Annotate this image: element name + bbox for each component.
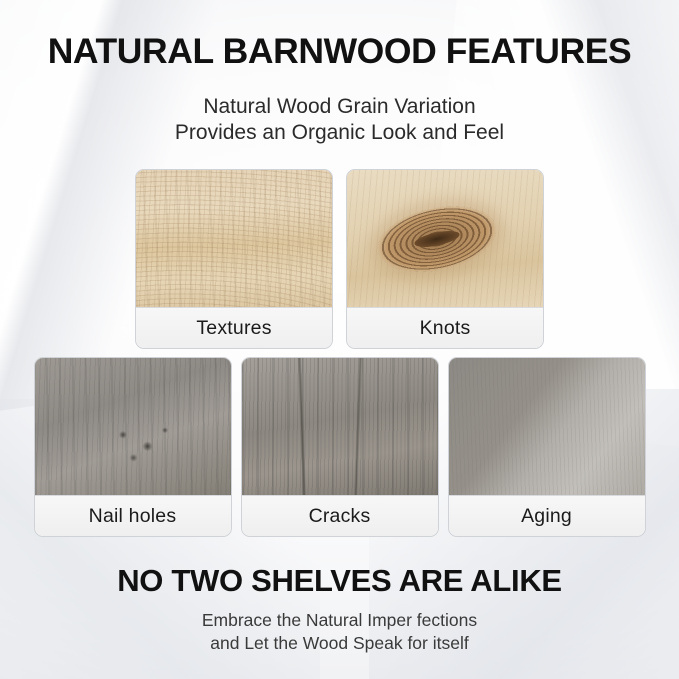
feature-card-caption: Knots	[347, 307, 543, 348]
feature-card-caption: Aging	[449, 495, 645, 536]
grey-wood-cracks-swatch	[242, 358, 438, 495]
feature-card-knots: Knots	[346, 169, 544, 349]
wood-knot-shape	[372, 196, 502, 282]
poster-headline: NATURAL BARNWOOD FEATURES	[0, 0, 679, 70]
poster-foot-subtext: Embrace the Natural Imper fections and L…	[0, 609, 679, 655]
feature-card-nail-holes: Nail holes	[34, 357, 232, 537]
feature-row-top: Textures Knots	[0, 169, 679, 349]
feature-card-aging: Aging	[448, 357, 646, 537]
foot-subtext-line-2: and Let the Wood Speak for itself	[0, 632, 679, 655]
feature-card-caption: Nail holes	[35, 495, 231, 536]
crack-lines	[242, 358, 438, 495]
feature-card-grid: Textures Knots Nail holes	[0, 169, 679, 537]
grain-arcs	[136, 170, 332, 307]
grey-wood-aging-swatch	[449, 358, 645, 495]
nail-holes-marks	[109, 421, 179, 467]
poster-subheadline: Natural Wood Grain Variation Provides an…	[0, 94, 679, 148]
feature-card-textures: Textures	[135, 169, 333, 349]
poster-content: NATURAL BARNWOOD FEATURES Natural Wood G…	[0, 0, 679, 655]
knot-wood-swatch	[347, 170, 543, 307]
feature-card-caption: Cracks	[242, 495, 438, 536]
feature-row-bottom: Nail holes Cracks Aging	[0, 357, 679, 537]
foot-subtext-line-1: Embrace the Natural Imper fections	[0, 609, 679, 632]
barnwood-features-poster: NATURAL BARNWOOD FEATURES Natural Wood G…	[0, 0, 679, 679]
feature-card-cracks: Cracks	[241, 357, 439, 537]
subheadline-line-1: Natural Wood Grain Variation	[0, 94, 679, 121]
poster-footline: NO TWO SHELVES ARE ALIKE	[0, 563, 679, 599]
grey-wood-nail-holes-swatch	[35, 358, 231, 495]
feature-card-caption: Textures	[136, 307, 332, 348]
subheadline-line-2: Provides an Organic Look and Feel	[0, 120, 679, 147]
light-wood-grain-swatch	[136, 170, 332, 307]
